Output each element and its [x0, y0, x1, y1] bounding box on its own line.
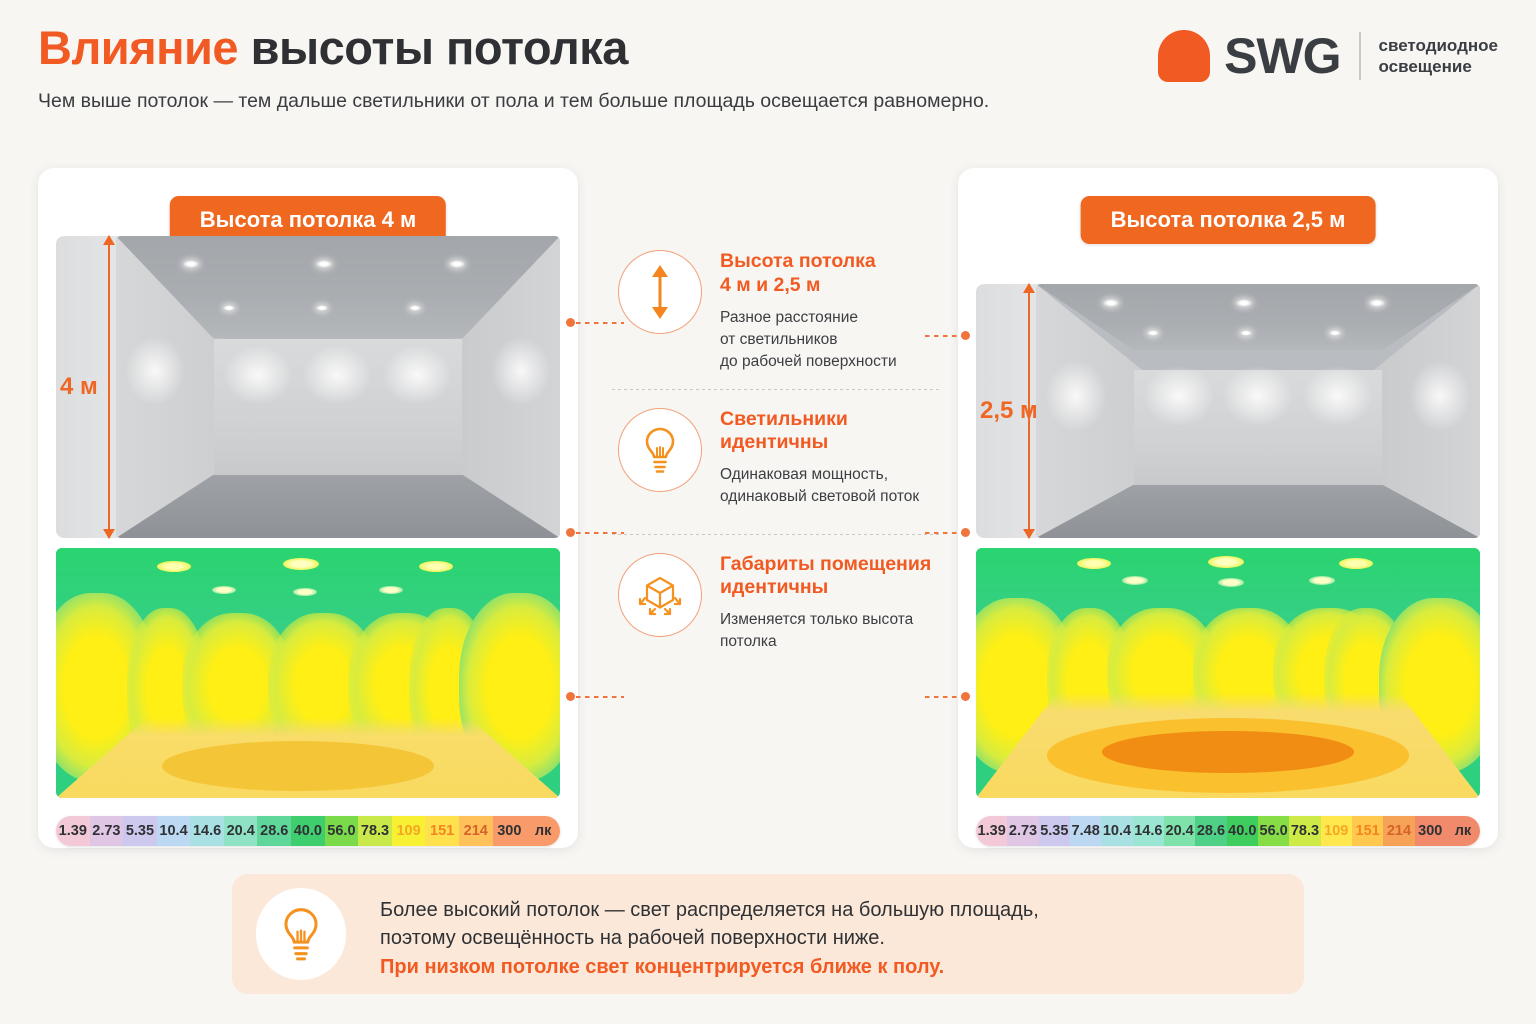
legend-cell: 151: [425, 816, 459, 846]
conclusion-line1: Более высокий потолок — свет распределяе…: [380, 896, 1280, 924]
legend-cell: 40.0: [291, 816, 325, 846]
legend-cell: 10.4: [157, 816, 191, 846]
wall-light-pool: [125, 336, 185, 406]
legend-cell: 20.4: [1164, 816, 1195, 846]
panel-ceiling-25m: Высота потолка 2,5 м 2,5 м: [958, 168, 1498, 848]
feature-list: Высота потолка 4 м и 2,5 м Разное рассто…: [612, 250, 942, 663]
legend-cell: 14.6: [1133, 816, 1164, 846]
feature-title-line1: Высота потолка: [720, 250, 942, 274]
legend-cell: 300: [1415, 816, 1446, 846]
legend-cell: 20.4: [224, 816, 258, 846]
cube-dimensions-icon: [618, 553, 702, 637]
header: Влияние высоты потолка Чем выше потолок …: [38, 24, 1498, 134]
feature-desc-line3: до рабочей поверхности: [720, 351, 942, 373]
feature-ceiling-height: Высота потолка 4 м и 2,5 м Разное рассто…: [612, 250, 942, 373]
room-interior-right: [1036, 284, 1480, 538]
downlight-icon: [1329, 330, 1341, 336]
page-title-highlight: Влияние: [38, 21, 238, 74]
logo-tagline-line2: освещение: [1379, 56, 1498, 77]
wall-light-pool: [1409, 360, 1471, 432]
logo-tagline-line1: светодиодное: [1379, 35, 1498, 56]
downlight-icon: [1147, 330, 1159, 336]
room-interior-left: [116, 236, 560, 538]
downlight-icon: [183, 260, 199, 268]
legend-cell: 109: [1321, 816, 1352, 846]
heat-luminaire-spot: [1218, 578, 1244, 587]
conclusion-box: Более высокий потолок — свет распределяе…: [232, 874, 1304, 994]
heat-luminaire-spot: [1339, 558, 1373, 569]
infographic-page: Влияние высоты потолка Чем выше потолок …: [0, 0, 1536, 1024]
height-label-left: 4 м: [60, 373, 98, 401]
feature-desc-line2: одинаковый световой поток: [720, 486, 942, 508]
legend-cell: 28.6: [257, 816, 291, 846]
connector-dot: [566, 528, 575, 537]
legend-cell: 109: [392, 816, 426, 846]
feature-title-line2: идентичны: [720, 576, 942, 600]
feature-title: Габариты помещения идентичны: [720, 553, 942, 601]
feature-desc-line2: потолка: [720, 631, 942, 653]
legend-cell: 78.3: [358, 816, 392, 846]
downlight-icon: [1240, 330, 1252, 336]
legend-cell: 28.6: [1195, 816, 1226, 846]
feature-title: Светильники идентичны: [720, 408, 942, 456]
heat-luminaire-spot: [1309, 576, 1335, 585]
lightbulb-icon: [618, 408, 702, 492]
brand-logo: SWG светодиодное освещение: [1158, 30, 1498, 82]
page-subtitle: Чем выше потолок — тем дальше светильник…: [38, 89, 1498, 113]
connector-line: [576, 696, 624, 698]
height-label-right: 2,5 м: [980, 397, 1038, 425]
heat-luminaire-spot: [157, 561, 191, 572]
feature-desc: Одинаковая мощность, одинаковый световой…: [720, 464, 942, 508]
feature-divider: [612, 389, 942, 390]
page-title-rest: высоты потолка: [238, 21, 628, 74]
heat-luminaire-spot: [419, 561, 453, 572]
height-arrow-left: [108, 236, 110, 538]
wall-light-pool: [491, 336, 551, 406]
downlight-icon: [1103, 299, 1119, 307]
feature-title-line2: идентичны: [720, 431, 942, 455]
heatmap-right: [976, 548, 1480, 798]
wall-light-pool: [382, 345, 452, 405]
heat-luminaire-spot: [1122, 576, 1148, 585]
conclusion-text: Более высокий потолок — свет распределяе…: [380, 896, 1280, 981]
legend-cell: 214: [1383, 816, 1414, 846]
legend-cell: 10.4: [1101, 816, 1132, 846]
legend-cell: 1.39: [976, 816, 1007, 846]
downlight-icon: [316, 260, 332, 268]
heat-luminaire-spot: [212, 586, 236, 594]
room-render-left: 4 м: [56, 236, 560, 538]
panel-ceiling-4m: Высота потолка 4 м 4 м: [38, 168, 578, 848]
heatmap-canvas: [976, 548, 1480, 798]
legend-cell: 40.0: [1227, 816, 1258, 846]
legend-cell: 151: [1352, 816, 1383, 846]
legend-cell: 56.0: [1258, 816, 1289, 846]
feature-desc-line1: Изменяется только высота: [720, 609, 942, 631]
legend-cell: 1.39: [56, 816, 90, 846]
feature-desc-line2: от светильников: [720, 329, 942, 351]
up-down-arrow-icon: [618, 250, 702, 334]
legend-cell: 5.35: [123, 816, 157, 846]
conclusion-line2: поэтому освещённость на рабочей поверхно…: [380, 924, 1280, 952]
heat-luminaire-spot: [283, 558, 319, 570]
legend-scale-right: 1.392.735.357.4810.414.620.428.640.056.0…: [976, 816, 1480, 846]
logo-tagline: светодиодное освещение: [1379, 35, 1498, 78]
feature-desc-line1: Разное расстояние: [720, 307, 942, 329]
heat-luminaire-spot: [1208, 556, 1244, 568]
legend-cell: 14.6: [190, 816, 224, 846]
wall-light-pool: [1143, 365, 1215, 427]
legend-cell: 214: [459, 816, 493, 846]
wall-light-pool: [1045, 360, 1107, 432]
heat-luminaire-spot: [293, 588, 317, 596]
logo-wordmark: SWG: [1224, 31, 1340, 81]
legend-cell: 56.0: [325, 816, 359, 846]
logo-divider: [1359, 32, 1361, 80]
heat-floor-core: [162, 741, 434, 791]
heatmap-canvas: [56, 548, 560, 798]
legend-cell: 5.35: [1039, 816, 1070, 846]
legend-unit: лк: [526, 816, 560, 846]
legend-unit: лк: [1446, 816, 1480, 846]
connector-dot: [566, 318, 575, 327]
wall-light-pool: [223, 345, 293, 405]
wall-light-pool: [302, 345, 372, 405]
feature-desc: Изменяется только высота потолка: [720, 609, 942, 653]
legend-cell: 2.73: [90, 816, 124, 846]
feature-desc-line1: Одинаковая мощность,: [720, 464, 942, 486]
legend-cell: 2.73: [1007, 816, 1038, 846]
feature-divider: [612, 534, 942, 535]
legend-scale-left: 1.392.735.3510.414.620.428.640.056.078.3…: [56, 816, 560, 846]
heatmap-left: [56, 548, 560, 798]
room-render-right: 2,5 м: [976, 236, 1480, 538]
connector-line: [925, 696, 965, 698]
swg-dot-icon: [1158, 30, 1210, 82]
heat-luminaire-spot: [1077, 558, 1111, 569]
feature-title: Высота потолка 4 м и 2,5 м: [720, 250, 942, 298]
heat-floor-core: [1102, 731, 1354, 774]
feature-title-line1: Габариты помещения: [720, 553, 942, 577]
connector-dot: [566, 692, 575, 701]
feature-room-dimensions: Габариты помещения идентичны Изменяется …: [612, 553, 942, 663]
feature-title-line2: 4 м и 2,5 м: [720, 274, 942, 298]
feature-luminaires: Светильники идентичны Одинаковая мощност…: [612, 408, 942, 518]
legend-cell: 78.3: [1289, 816, 1320, 846]
conclusion-line3: При низком потолке свет концентрируется …: [380, 953, 1280, 981]
feature-desc: Разное расстояние от светильников до раб…: [720, 307, 942, 373]
feature-title-line1: Светильники: [720, 408, 942, 432]
legend-cell: 300: [493, 816, 527, 846]
legend-cell: 7.48: [1070, 816, 1101, 846]
heat-luminaire-spot: [379, 586, 403, 594]
lightbulb-icon: [256, 888, 346, 980]
